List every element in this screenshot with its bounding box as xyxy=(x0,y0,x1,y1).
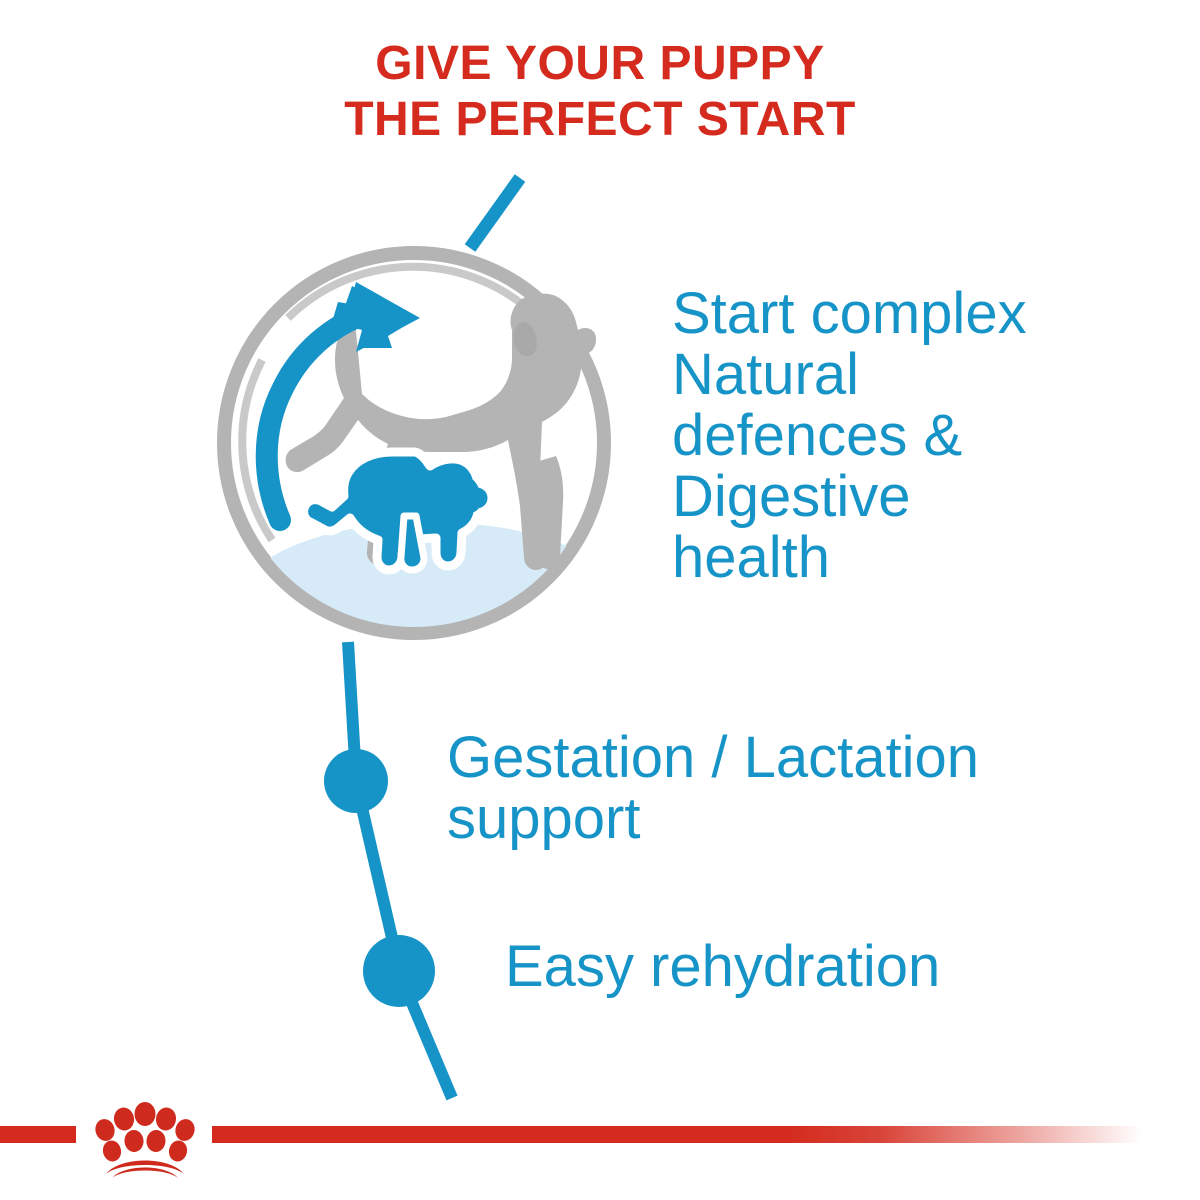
infographic-page: GIVE YOUR PUPPY THE PERFECT START xyxy=(0,0,1200,1200)
feature-label-start-complex: Start complex Natural defences & Digesti… xyxy=(672,283,1172,588)
puppy-growth-circle-icon xyxy=(224,253,620,678)
feature-2-line-1: Gestation / Lactation xyxy=(447,727,1177,788)
feature-label-gestation-lactation: Gestation / Lactation support xyxy=(447,727,1177,849)
feature-1-line-4: Digestive xyxy=(672,466,1172,527)
connector-dot-rehydration xyxy=(363,935,435,1007)
feature-2-line-2: support xyxy=(447,788,1177,849)
feature-label-easy-rehydration: Easy rehydration xyxy=(505,936,1165,997)
feature-1-line-3: defences & xyxy=(672,405,1172,466)
royal-canin-crown-logo xyxy=(76,1096,214,1178)
feature-3-line-1: Easy rehydration xyxy=(505,936,1165,997)
infographic-artwork xyxy=(0,0,1200,1200)
connector-dot-gestation xyxy=(324,749,388,813)
feature-1-line-5: health xyxy=(672,527,1172,588)
footer-bar-right xyxy=(212,1126,1142,1143)
footer-bar-left xyxy=(0,1126,76,1143)
connector-line-top xyxy=(470,178,520,248)
feature-1-line-1: Start complex xyxy=(672,283,1172,344)
feature-1-line-2: Natural xyxy=(672,344,1172,405)
